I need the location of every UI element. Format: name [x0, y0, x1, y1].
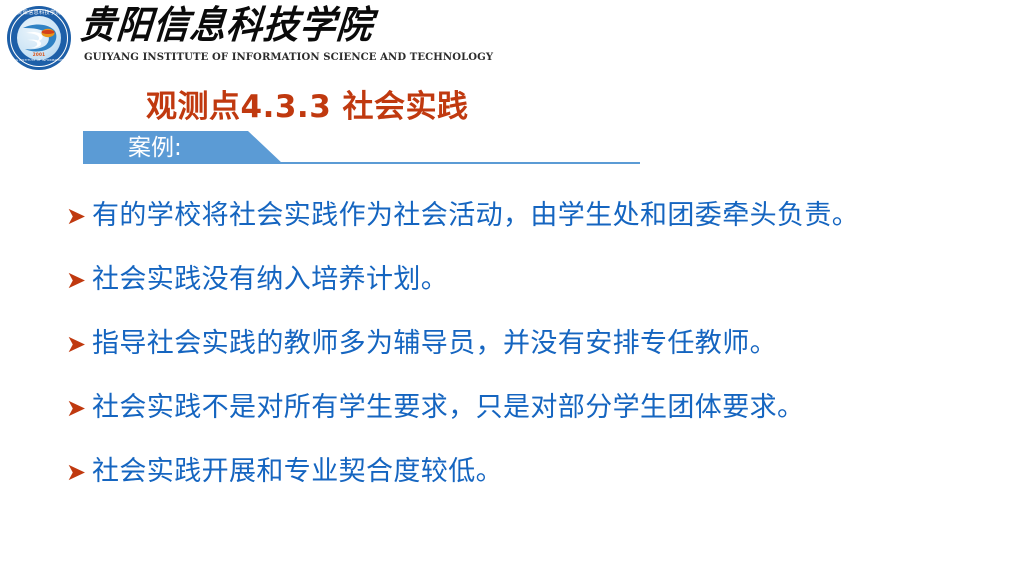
- seal-ring-text-en: GUIYANG INSTITUTE OF INFORMATION SCIENCE…: [4, 59, 74, 62]
- seal-year: 2001: [4, 52, 74, 57]
- page-title: 观测点4.3.3 社会实践: [146, 88, 469, 126]
- arrow-bullet-icon: ➤: [66, 388, 92, 428]
- case-banner-shape: [83, 131, 283, 164]
- list-item-text: 指导社会实践的教师多为辅导员，并没有安排专任教师。: [92, 324, 996, 364]
- list-item: ➤ 社会实践没有纳入培养计划。: [66, 260, 996, 324]
- arrow-bullet-icon: ➤: [66, 324, 92, 364]
- institution-header: 贵阳信息科技学院 GUIYANG INSTITUTE OF INFORMATIO…: [4, 2, 424, 76]
- case-banner: 案例:: [83, 131, 283, 164]
- wordmark: 贵阳信息科技学院 GUIYANG INSTITUTE OF INFORMATIO…: [82, 2, 412, 74]
- list-item: ➤ 社会实践不是对所有学生要求，只是对部分学生团体要求。: [66, 388, 996, 452]
- seal-ring-text-cn: 贵阳信息科技学院: [4, 11, 74, 16]
- wordmark-english: GUIYANG INSTITUTE OF INFORMATION SCIENCE…: [84, 51, 401, 63]
- arrow-bullet-icon: ➤: [66, 260, 92, 300]
- bullet-list: ➤ 有的学校将社会实践作为社会活动，由学生处和团委牵头负责。 ➤ 社会实践没有纳…: [66, 196, 996, 516]
- list-item-text: 社会实践没有纳入培养计划。: [92, 260, 996, 300]
- arrow-bullet-icon: ➤: [66, 196, 92, 236]
- arrow-bullet-icon: ➤: [66, 452, 92, 492]
- list-item: ➤ 指导社会实践的教师多为辅导员，并没有安排专任教师。: [66, 324, 996, 388]
- list-item-text: 社会实践开展和专业契合度较低。: [92, 452, 996, 492]
- case-banner-underline: [83, 162, 640, 164]
- list-item-text: 社会实践不是对所有学生要求，只是对部分学生团体要求。: [92, 388, 996, 428]
- wordmark-chinese: 贵阳信息科技学院: [78, 0, 392, 50]
- university-seal-icon: 贵阳信息科技学院 GUIYANG INSTITUTE OF INFORMATIO…: [4, 3, 74, 73]
- list-item-text: 有的学校将社会实践作为社会活动，由学生处和团委牵头负责。: [92, 196, 996, 236]
- case-banner-label: 案例:: [128, 133, 182, 163]
- list-item: ➤ 有的学校将社会实践作为社会活动，由学生处和团委牵头负责。: [66, 196, 996, 260]
- slide-canvas: 贵阳信息科技学院 GUIYANG INSTITUTE OF INFORMATIO…: [0, 0, 1024, 576]
- list-item: ➤ 社会实践开展和专业契合度较低。: [66, 452, 996, 516]
